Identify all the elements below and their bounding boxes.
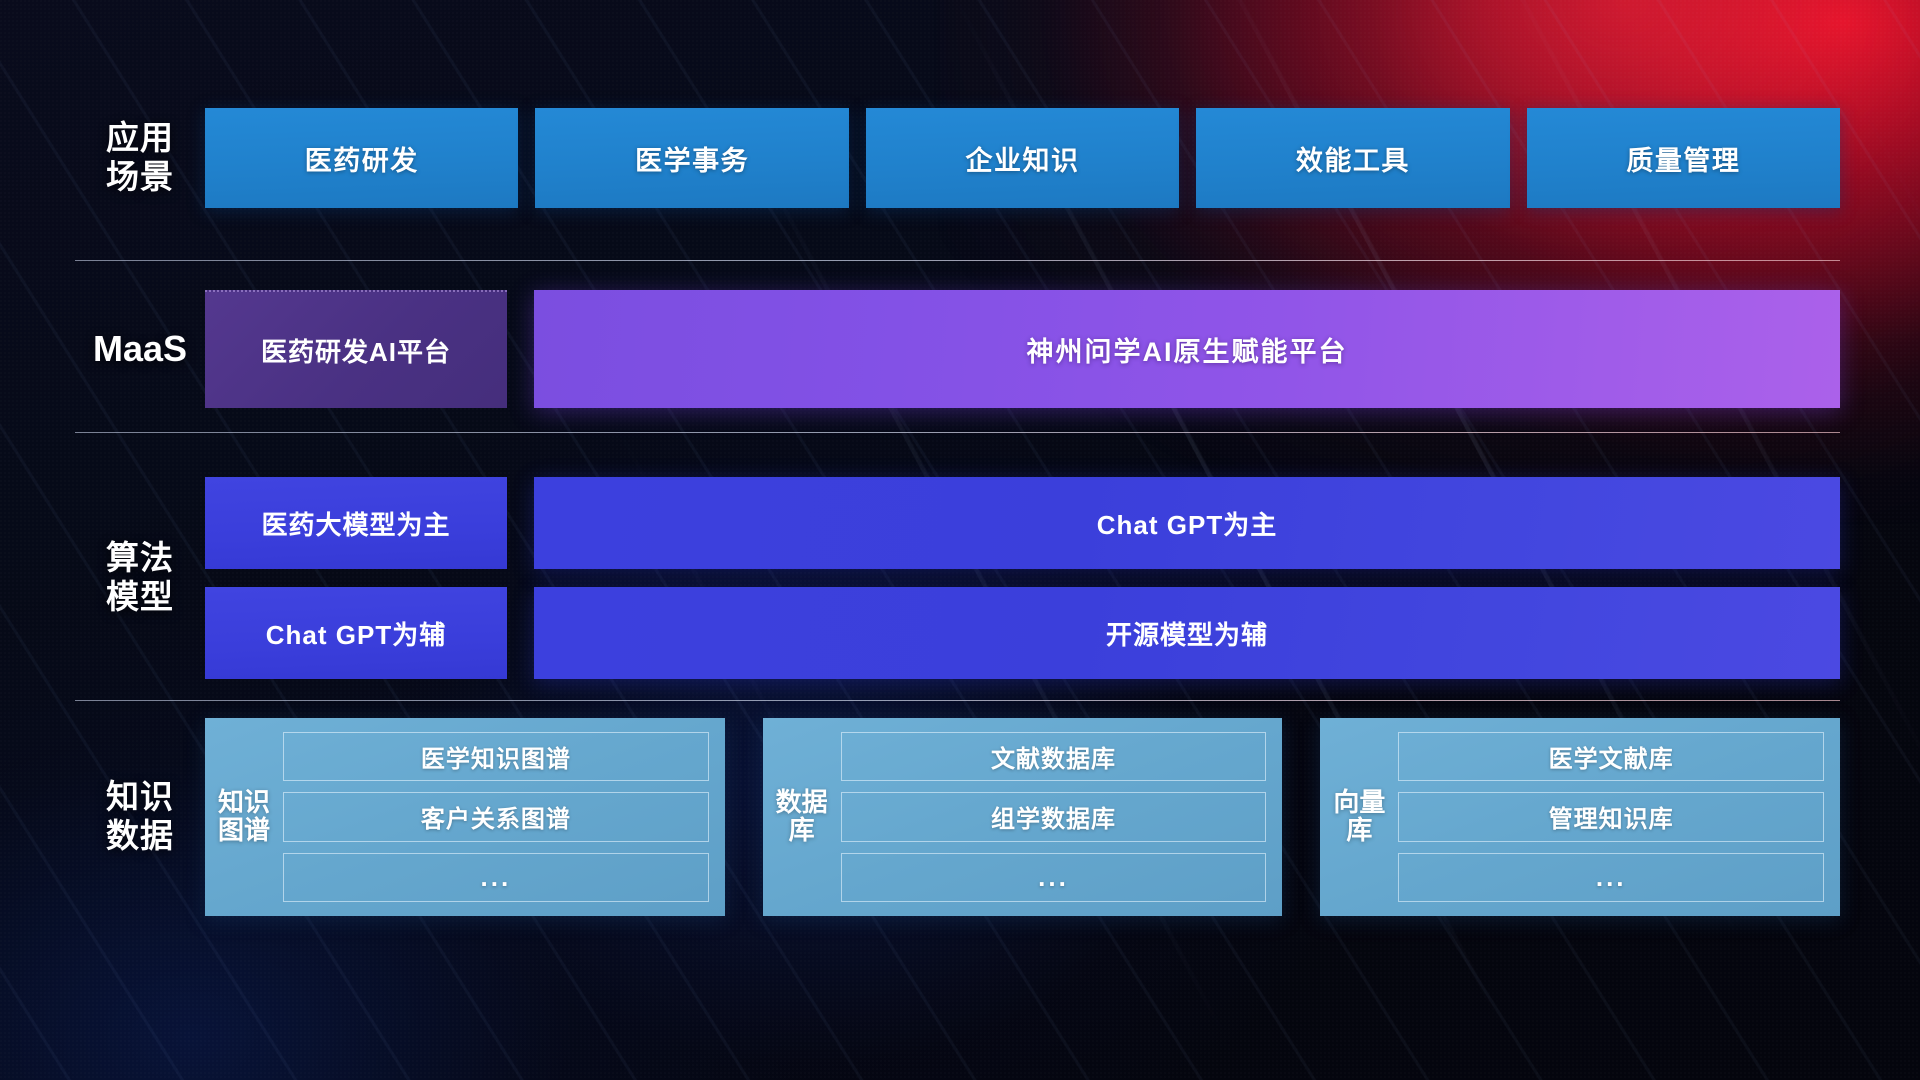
algo-box-label: Chat GPT为辅 bbox=[266, 615, 446, 652]
algo-box-chatgpt-secondary[interactable]: Chat GPT为辅 bbox=[205, 587, 507, 679]
algorithm-rows-stack: 医药大模型为主 Chat GPT为主 Chat GPT为辅 开源模型为辅 bbox=[205, 477, 1840, 679]
knowledge-item-literature-database[interactable]: 文献数据库 bbox=[841, 732, 1267, 781]
knowledge-item-customer-relation-graph[interactable]: 客户关系图谱 bbox=[283, 792, 709, 841]
knowledge-item-label: 组学数据库 bbox=[991, 799, 1116, 834]
knowledge-item-medical-knowledge-graph[interactable]: 医学知识图谱 bbox=[283, 732, 709, 781]
architecture-diagram: 应用 场景 医药研发 医学事务 企业知识 效能工具 bbox=[0, 0, 1920, 1080]
knowledge-item-label: 文献数据库 bbox=[991, 739, 1116, 774]
maas-box-shenzhou-wenxue-platform[interactable]: 神州问学AI原生赋能平台 bbox=[534, 290, 1840, 408]
algo-box-label: 医药大模型为主 bbox=[261, 505, 450, 542]
algorithm-row-primary: 医药大模型为主 Chat GPT为主 bbox=[205, 477, 1840, 569]
slide-canvas: 应用 场景 医药研发 医学事务 企业知识 效能工具 bbox=[0, 0, 1920, 1080]
algorithm-row-secondary: Chat GPT为辅 开源模型为辅 bbox=[205, 587, 1840, 679]
algo-box-pharma-large-model-primary[interactable]: 医药大模型为主 bbox=[205, 477, 507, 569]
algo-box-label: 开源模型为辅 bbox=[1106, 615, 1268, 652]
knowledge-item-label: ... bbox=[1596, 862, 1627, 893]
knowledge-items-list: 文献数据库 组学数据库 ... bbox=[841, 732, 1267, 902]
knowledge-panel-vertical-label: 数据库 bbox=[775, 732, 829, 902]
tier-label-knowledge-data: 知识 数据 bbox=[75, 778, 205, 856]
knowledge-panel-knowledge-graph[interactable]: 知识图谱 医学知识图谱 客户关系图谱 ... bbox=[205, 718, 725, 916]
tier-label-application-scenarios: 应用 场景 bbox=[75, 119, 205, 197]
knowledge-panel-database[interactable]: 数据库 文献数据库 组学数据库 ... bbox=[763, 718, 1283, 916]
maas-box-label: 神州问学AI原生赋能平台 bbox=[1027, 330, 1348, 369]
tier-body-application-scenarios: 医药研发 医学事务 企业知识 效能工具 质量管理 bbox=[205, 108, 1840, 208]
tier-body-maas: 医药研发AI平台 神州问学AI原生赋能平台 bbox=[205, 290, 1840, 408]
tier-maas: MaaS 医药研发AI平台 神州问学AI原生赋能平台 bbox=[75, 290, 1840, 408]
app-box-label: 医药研发 bbox=[305, 139, 419, 178]
knowledge-items-list: 医学知识图谱 客户关系图谱 ... bbox=[283, 732, 709, 902]
tier-label-maas: MaaS bbox=[75, 328, 205, 370]
knowledge-item-label: ... bbox=[1038, 862, 1069, 893]
application-boxes-row: 医药研发 医学事务 企业知识 效能工具 质量管理 bbox=[205, 108, 1840, 208]
app-box-label: 企业知识 bbox=[966, 139, 1080, 178]
knowledge-panel-vertical-label: 知识图谱 bbox=[217, 732, 271, 902]
knowledge-item-label: 医学知识图谱 bbox=[421, 739, 571, 774]
app-box-medical-affairs[interactable]: 医学事务 bbox=[535, 108, 848, 208]
app-box-label: 质量管理 bbox=[1626, 139, 1740, 178]
knowledge-panels-row: 知识图谱 医学知识图谱 客户关系图谱 ... bbox=[205, 718, 1840, 916]
app-box-label: 医学事务 bbox=[635, 139, 749, 178]
knowledge-item-medical-literature-store[interactable]: 医学文献库 bbox=[1398, 732, 1824, 781]
knowledge-item-label: 医学文献库 bbox=[1549, 739, 1674, 774]
app-box-efficiency-tools[interactable]: 效能工具 bbox=[1196, 108, 1509, 208]
tier-application-scenarios: 应用 场景 医药研发 医学事务 企业知识 效能工具 bbox=[75, 108, 1840, 208]
algo-box-label: Chat GPT为主 bbox=[1097, 505, 1277, 542]
knowledge-panel-vertical-label: 向量库 bbox=[1332, 732, 1386, 902]
tier-body-knowledge-data: 知识图谱 医学知识图谱 客户关系图谱 ... bbox=[205, 718, 1840, 916]
divider-applications-maas bbox=[75, 260, 1840, 261]
app-box-quality-management[interactable]: 质量管理 bbox=[1527, 108, 1840, 208]
knowledge-items-list: 医学文献库 管理知识库 ... bbox=[1398, 732, 1824, 902]
app-box-enterprise-knowledge[interactable]: 企业知识 bbox=[866, 108, 1179, 208]
knowledge-item-more[interactable]: ... bbox=[283, 853, 709, 902]
knowledge-item-omics-database[interactable]: 组学数据库 bbox=[841, 792, 1267, 841]
tier-algorithm-models: 算法 模型 医药大模型为主 Chat GPT为主 Chat GPT为辅 bbox=[75, 460, 1840, 696]
divider-algorithm-knowledge bbox=[75, 700, 1840, 701]
algo-box-chatgpt-primary[interactable]: Chat GPT为主 bbox=[534, 477, 1840, 569]
knowledge-item-label: ... bbox=[481, 862, 512, 893]
app-box-medicine-rd[interactable]: 医药研发 bbox=[205, 108, 518, 208]
algo-box-opensource-model-secondary[interactable]: 开源模型为辅 bbox=[534, 587, 1840, 679]
knowledge-item-label: 管理知识库 bbox=[1549, 799, 1674, 834]
knowledge-item-more[interactable]: ... bbox=[1398, 853, 1824, 902]
knowledge-item-label: 客户关系图谱 bbox=[421, 799, 571, 834]
tier-label-algorithm-models: 算法 模型 bbox=[75, 539, 205, 617]
tier-knowledge-data: 知识 数据 知识图谱 医学知识图谱 客户关系图谱 bbox=[75, 718, 1840, 916]
knowledge-panel-vector-store[interactable]: 向量库 医学文献库 管理知识库 ... bbox=[1320, 718, 1840, 916]
tier-body-algorithm-models: 医药大模型为主 Chat GPT为主 Chat GPT为辅 开源模型为辅 bbox=[205, 477, 1840, 679]
maas-boxes-row: 医药研发AI平台 神州问学AI原生赋能平台 bbox=[205, 290, 1840, 408]
divider-maas-algorithm bbox=[75, 432, 1840, 433]
maas-box-label: 医药研发AI平台 bbox=[261, 332, 451, 369]
maas-box-medicine-ai-platform[interactable]: 医药研发AI平台 bbox=[205, 290, 507, 408]
app-box-label: 效能工具 bbox=[1296, 139, 1410, 178]
knowledge-item-management-knowledge-store[interactable]: 管理知识库 bbox=[1398, 792, 1824, 841]
knowledge-item-more[interactable]: ... bbox=[841, 853, 1267, 902]
